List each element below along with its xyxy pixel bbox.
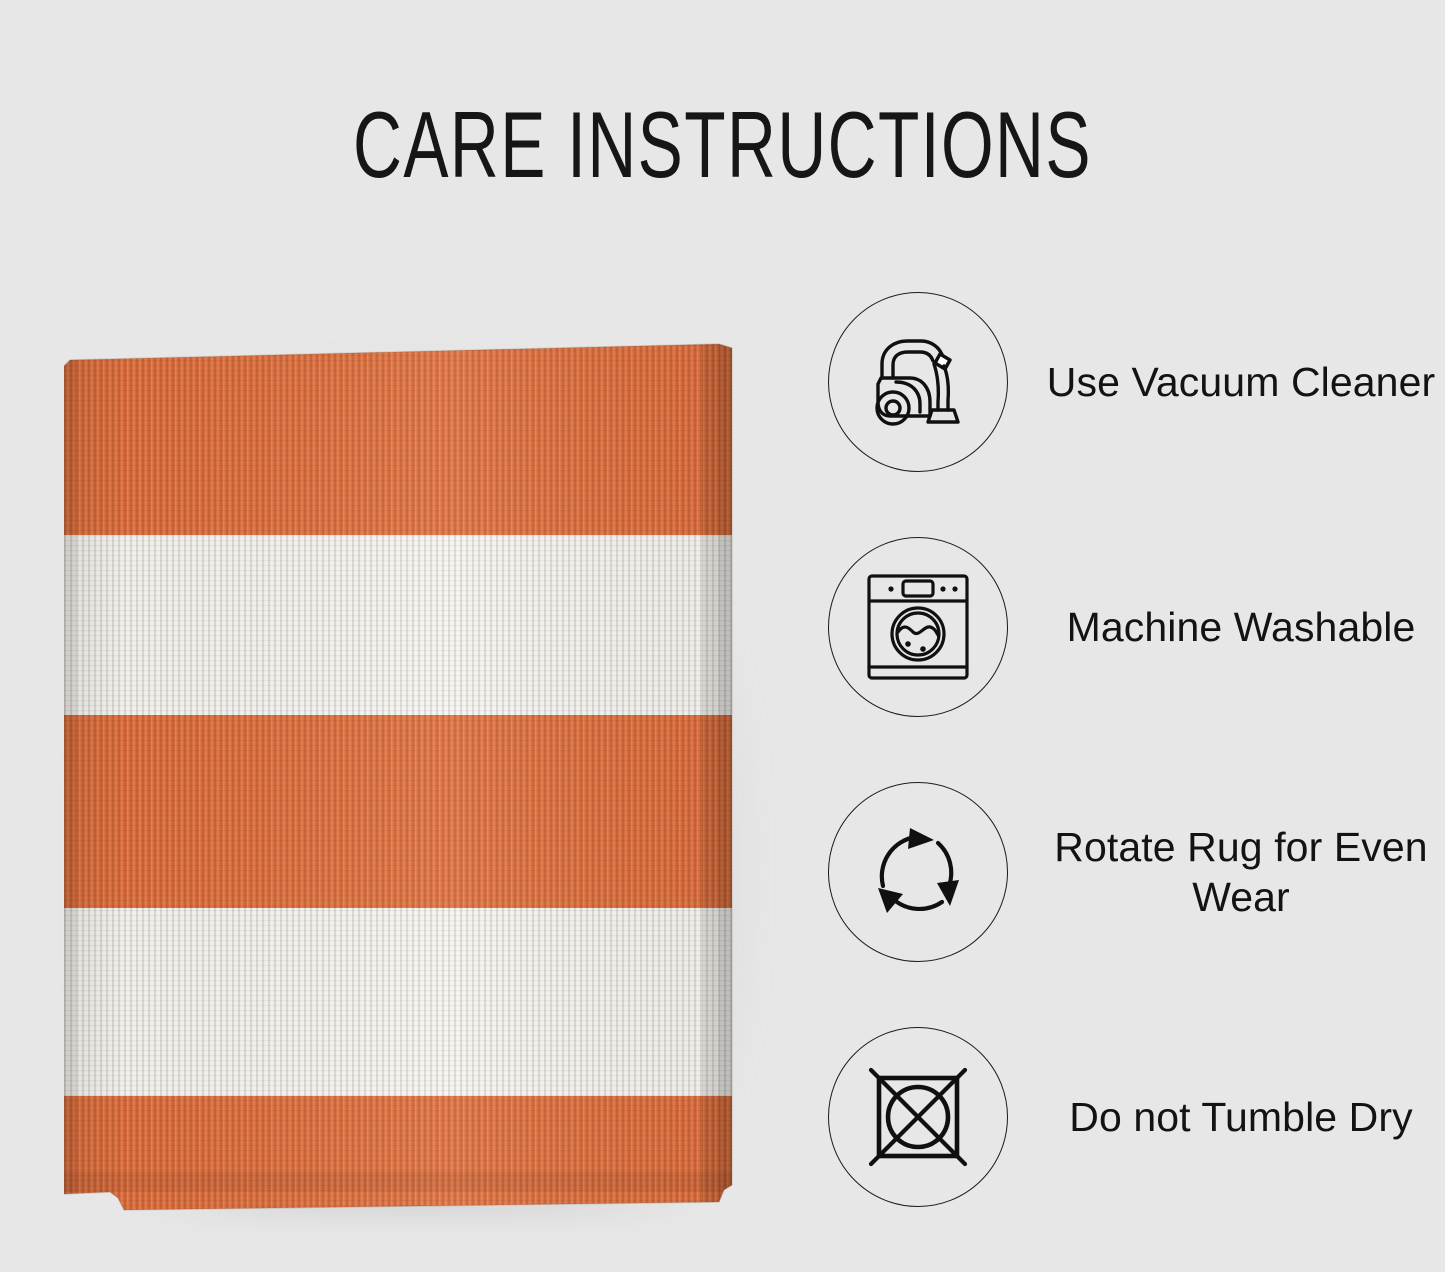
vacuum-cleaner-icon bbox=[828, 292, 1008, 472]
instruction-item-vacuum: Use Vacuum Cleaner bbox=[820, 292, 1440, 537]
page-title: CARE INSTRUCTIONS bbox=[202, 96, 1242, 195]
instruction-item-rotate: Rotate Rug for Even Wear bbox=[820, 782, 1440, 1027]
do-not-tumble-dry-icon bbox=[828, 1027, 1008, 1207]
instruction-label-no-tumble-dry: Do not Tumble Dry bbox=[1042, 1027, 1440, 1207]
instruction-label-machine-washable: Machine Washable bbox=[1042, 537, 1440, 717]
rug-product-image bbox=[64, 330, 764, 1220]
instruction-item-no-tumble-dry: Do not Tumble Dry bbox=[820, 1027, 1440, 1272]
instruction-label-rotate: Rotate Rug for Even Wear bbox=[1042, 782, 1440, 962]
care-instructions-list: Use Vacuum Cleaner bbox=[820, 292, 1440, 1272]
instruction-item-machine-washable: Machine Washable bbox=[820, 537, 1440, 782]
rotate-arrows-icon bbox=[828, 782, 1008, 962]
rug-body bbox=[64, 330, 764, 1220]
washing-machine-icon bbox=[828, 537, 1008, 717]
instruction-label-vacuum: Use Vacuum Cleaner bbox=[1042, 292, 1440, 472]
